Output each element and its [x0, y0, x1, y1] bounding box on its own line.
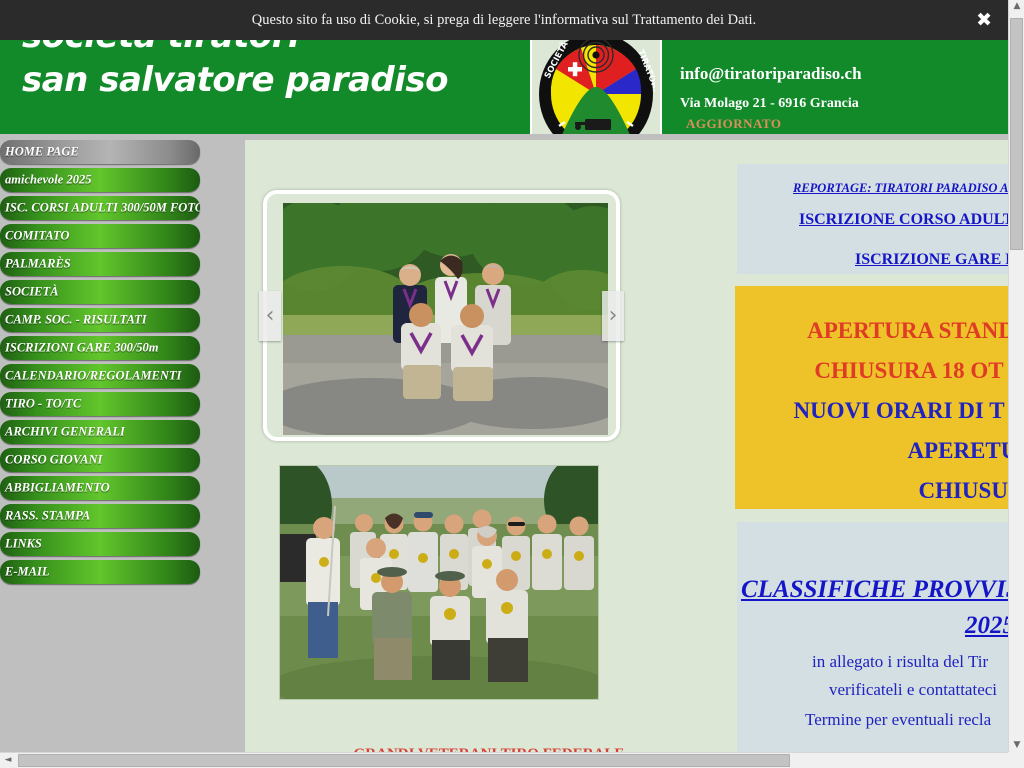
site-header: società tiratori san salvatore paradiso	[0, 28, 1008, 134]
sidebar-item-label: PALMARÈS	[5, 257, 71, 272]
sidebar-item-label: E-MAIL	[5, 565, 49, 580]
notice-panel: APERTURA STAND CHIUSURA 18 OT NUOVI ORAR…	[735, 286, 1008, 509]
photo-slideshow: ‹ ›	[263, 190, 620, 441]
link-reportage[interactable]: REPORTAGE: TIRATORI PARADISO A...	[793, 181, 1008, 196]
sidebar-item-calendario-regolamenti[interactable]: CALENDARIO/REGOLAMENTI	[0, 364, 200, 388]
results-body-line1: in allegato i risulta del Tir	[812, 652, 988, 672]
sidebar-item-label: ABBIGLIAMENTO	[5, 481, 110, 496]
slideshow-photo-image	[283, 203, 608, 435]
slideshow-prev-arrow-icon[interactable]: ‹	[259, 291, 281, 341]
horizontal-scrollbar-thumb[interactable]	[18, 754, 790, 767]
sidebar-item-comitato[interactable]: COMITATO	[0, 224, 200, 248]
notice-line-4: APERETURA	[833, 438, 1008, 464]
main-navigation: HOME PAGE amichevole 2025 ISC. CORSI ADU…	[0, 140, 202, 588]
sidebar-item-links[interactable]: LINKS	[0, 532, 200, 556]
sidebar-item-societa[interactable]: SOCIETÀ	[0, 280, 200, 304]
sidebar-item-amichevole-2025[interactable]: amichevole 2025	[0, 168, 200, 192]
right-sidebar: REPORTAGE: TIRATORI PARADISO A... ISCRIZ…	[733, 140, 1008, 752]
slideshow-photo	[283, 203, 608, 435]
announcement-links-panel: REPORTAGE: TIRATORI PARADISO A... ISCRIZ…	[737, 164, 1008, 274]
sidebar-item-e-mail[interactable]: E-MAIL	[0, 560, 200, 584]
link-iscrizione-corso-adulti[interactable]: ISCRIZIONE CORSO ADULTI	[799, 211, 1008, 229]
notice-line-2: CHIUSURA 18 OT	[763, 358, 1008, 384]
notice-line-3: NUOVI ORARI DI T	[753, 398, 1008, 424]
sidebar-item-label: amichevole 2025	[5, 173, 91, 188]
header-address: Via Molago 21 - 6916 Grancia	[680, 96, 859, 112]
sidebar-item-label: CAMP. SOC. - RISULTATI	[5, 313, 147, 328]
group-photo	[279, 465, 599, 700]
sidebar-item-abbigliamento[interactable]: ABBIGLIAMENTO	[0, 476, 200, 500]
sidebar-item-label: SOCIETÀ	[5, 285, 59, 300]
sidebar-item-isc-corsi-adulti[interactable]: ISC. CORSI ADULTI 300/50M FOTO	[0, 196, 200, 220]
club-logo: PARADISO SOCIETÀ TIRATORE	[530, 28, 662, 134]
vertical-scrollbar-thumb[interactable]	[1010, 18, 1023, 250]
scrollbar-corner	[1008, 752, 1024, 768]
header-updated-label: AGGIORNATO	[686, 116, 782, 132]
page-content: società tiratori san salvatore paradiso	[0, 0, 1008, 752]
sidebar-item-label: CORSO GIOVANI	[5, 453, 102, 468]
sidebar-item-corso-giovani[interactable]: CORSO GIOVANI	[0, 448, 200, 472]
sidebar-item-home-page[interactable]: HOME PAGE	[0, 140, 200, 164]
sidebar-item-label: ISC. CORSI ADULTI 300/50M FOTO	[5, 201, 200, 216]
results-title-line1[interactable]: CLASSIFICHE PROVVISO	[741, 576, 1008, 604]
site-title-line2: san salvatore paradiso	[22, 60, 448, 100]
main-content: ‹ ›	[245, 140, 733, 752]
sidebar-item-label: COMITATO	[5, 229, 69, 244]
link-iscrizione-gare[interactable]: ISCRIZIONE GARE F...	[855, 251, 1008, 269]
sidebar-item-camp-soc-risultati[interactable]: CAMP. SOC. - RISULTATI	[0, 308, 200, 332]
close-icon[interactable]: ✖	[976, 9, 992, 31]
sidebar-item-label: ARCHIVI GENERALI	[5, 425, 125, 440]
results-title-line2[interactable]: 2025	[965, 612, 1008, 640]
scroll-up-arrow-icon[interactable]: ▲	[1009, 1, 1024, 11]
sidebar-item-rass-stampa[interactable]: RASS. STAMPA	[0, 504, 200, 528]
notice-line-5: CHIUSURA O	[845, 478, 1008, 504]
sidebar-item-tiro-to-tc[interactable]: TIRO - TO/TC	[0, 392, 200, 416]
results-body-line3: Termine per eventuali recla	[805, 710, 991, 730]
sidebar-item-label: HOME PAGE	[5, 145, 79, 160]
scroll-left-arrow-icon[interactable]: ◄	[2, 755, 14, 765]
group-row-front	[372, 567, 528, 682]
sidebar-item-archivi-generali[interactable]: ARCHIVI GENERALI	[0, 420, 200, 444]
slideshow-next-arrow-icon[interactable]: ›	[602, 291, 624, 341]
sidebar-item-label: RASS. STAMPA	[5, 509, 90, 524]
results-body-line2: verificateli e contattateci	[829, 680, 997, 700]
sidebar-item-label: ISCRIZIONI GARE 300/50m	[5, 341, 159, 356]
sidebar-item-label: TIRO - TO/TC	[5, 397, 81, 412]
notice-line-1: APERTURA STAND	[765, 318, 1008, 344]
results-panel: CLASSIFICHE PROVVISO 2025 in allegato i …	[737, 522, 1008, 752]
browser-viewport: società tiratori san salvatore paradiso	[0, 0, 1024, 768]
vertical-scrollbar[interactable]: ▲ ▼	[1008, 0, 1024, 752]
club-crest-icon: PARADISO SOCIETÀ TIRATORE	[537, 31, 655, 134]
header-email[interactable]: info@tiratoriparadiso.ch	[680, 64, 862, 84]
sidebar-item-iscrizioni-gare[interactable]: ISCRIZIONI GARE 300/50m	[0, 336, 200, 360]
horizontal-scrollbar[interactable]: ◄ ►	[0, 752, 1024, 768]
sidebar-item-label: CALENDARIO/REGOLAMENTI	[5, 369, 181, 384]
sidebar-item-label: LINKS	[5, 537, 42, 552]
cookie-consent-banner: Questo sito fa uso di Cookie, si prega d…	[0, 0, 1008, 40]
cookie-banner-message: Questo sito fa uso di Cookie, si prega d…	[0, 0, 1008, 40]
sidebar-item-palmares[interactable]: PALMARÈS	[0, 252, 200, 276]
group-photo-image	[280, 466, 599, 700]
scroll-down-arrow-icon[interactable]: ▼	[1009, 740, 1024, 750]
